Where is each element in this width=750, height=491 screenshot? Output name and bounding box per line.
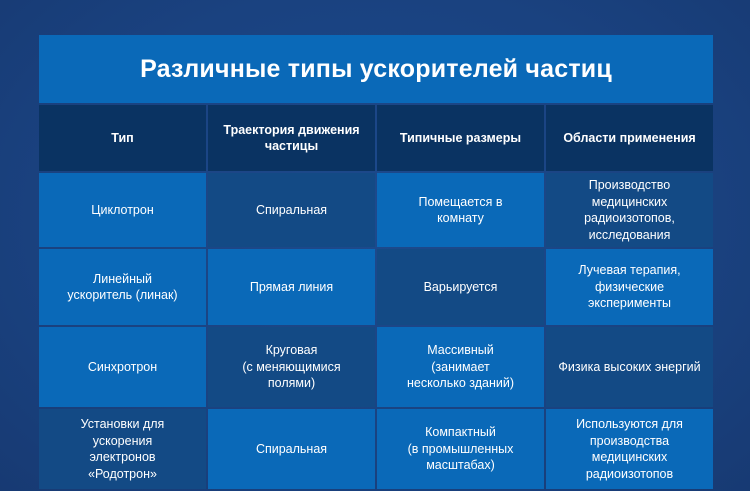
cell-type-2: Линейный ускоритель (линак)	[39, 249, 206, 325]
cell-application-1: Производство медицинских радиоизотопов, …	[546, 173, 713, 247]
cell-type-3-line-1: Синхротрон	[47, 359, 198, 376]
cell-trajectory-3-line-3: полями)	[216, 375, 367, 392]
cell-trajectory-3-line-2: (с меняющимися	[216, 359, 367, 376]
cell-size-4-line-3: масштабах)	[385, 457, 536, 474]
cell-application-2: Лучевая терапия, физические эксперименты	[546, 249, 713, 325]
cell-type-1-line-1: Циклотрон	[47, 202, 198, 219]
cell-type-4-line-3: электронов	[47, 449, 198, 466]
cell-trajectory-2: Прямая линия	[208, 249, 375, 325]
cell-size-3-line-2: (занимает	[385, 359, 536, 376]
cell-size-1-line-1: Помещается в	[385, 194, 536, 211]
cell-size-4: Компактный (в промышленных масштабах)	[377, 409, 544, 489]
header-row: Тип Траектория движения частицы Типичные…	[39, 105, 713, 171]
title-row: Различные типы ускорителей частиц	[39, 35, 713, 103]
cell-trajectory-2-line-1: Прямая линия	[216, 279, 367, 296]
column-header-application-line-1: Области применения	[563, 131, 695, 145]
cell-application-3: Физика высоких энергий	[546, 327, 713, 407]
column-header-size: Типичные размеры	[377, 105, 544, 171]
column-header-trajectory-line-1: Траектория	[223, 123, 294, 137]
cell-type-4: Установки для ускорения электронов «Родо…	[39, 409, 206, 489]
column-header-type: Тип	[39, 105, 206, 171]
cell-application-3-line-1: Физика высоких энергий	[554, 359, 705, 376]
table-container: Различные типы ускорителей частиц Тип Тр…	[37, 33, 715, 467]
cell-size-4-line-1: Компактный	[385, 424, 536, 441]
cell-application-1-line-1: Производство медицинских	[554, 177, 705, 210]
cell-trajectory-4-line-1: Спиральная	[216, 441, 367, 458]
cell-size-3-line-3: несколько зданий)	[385, 375, 536, 392]
cell-application-4-line-3: радиоизотопов	[554, 466, 705, 483]
cell-size-4-line-2: (в промышленных	[385, 441, 536, 458]
cell-trajectory-1-line-1: Спиральная	[216, 202, 367, 219]
cell-size-2: Варьируется	[377, 249, 544, 325]
cell-application-4-line-1: Используются для	[554, 416, 705, 433]
cell-size-1-line-2: комнату	[385, 210, 536, 227]
cell-type-2-line-2: ускоритель (линак)	[47, 287, 198, 304]
cell-application-1-line-3: исследования	[554, 227, 705, 244]
table-row: Синхротрон Круговая (с меняющимися полям…	[39, 327, 713, 407]
cell-trajectory-3: Круговая (с меняющимися полями)	[208, 327, 375, 407]
column-header-type-line-1: Тип	[111, 131, 133, 145]
cell-application-1-line-2: радиоизотопов,	[554, 210, 705, 227]
slide-title: Различные типы ускорителей частиц	[39, 35, 713, 103]
cell-size-3: Массивный (занимает несколько зданий)	[377, 327, 544, 407]
column-header-size-line-1: Типичные размеры	[400, 131, 521, 145]
column-header-application: Области применения	[546, 105, 713, 171]
cell-type-4-line-2: ускорения	[47, 433, 198, 450]
cell-size-1: Помещается в комнату	[377, 173, 544, 247]
cell-trajectory-1: Спиральная	[208, 173, 375, 247]
cell-type-4-line-1: Установки для	[47, 416, 198, 433]
accelerator-types-table: Различные типы ускорителей частиц Тип Тр…	[37, 33, 715, 491]
cell-size-3-line-1: Массивный	[385, 342, 536, 359]
slide-canvas: Различные типы ускорителей частиц Тип Тр…	[0, 0, 750, 491]
cell-application-4: Используются для производства медицински…	[546, 409, 713, 489]
cell-size-2-line-1: Варьируется	[385, 279, 536, 296]
table-row: Линейный ускоритель (линак) Прямая линия…	[39, 249, 713, 325]
table-row: Циклотрон Спиральная Помещается в комнат…	[39, 173, 713, 247]
cell-trajectory-3-line-1: Круговая	[216, 342, 367, 359]
cell-type-2-line-1: Линейный	[47, 271, 198, 288]
cell-type-4-line-4: «Родотрон»	[47, 466, 198, 483]
cell-type-1: Циклотрон	[39, 173, 206, 247]
cell-type-3: Синхротрон	[39, 327, 206, 407]
cell-trajectory-4: Спиральная	[208, 409, 375, 489]
cell-application-2-line-2: физические эксперименты	[554, 279, 705, 312]
column-header-trajectory: Траектория движения частицы	[208, 105, 375, 171]
table-row: Установки для ускорения электронов «Родо…	[39, 409, 713, 489]
cell-application-4-line-2: производства медицинских	[554, 433, 705, 466]
cell-application-2-line-1: Лучевая терапия,	[554, 262, 705, 279]
